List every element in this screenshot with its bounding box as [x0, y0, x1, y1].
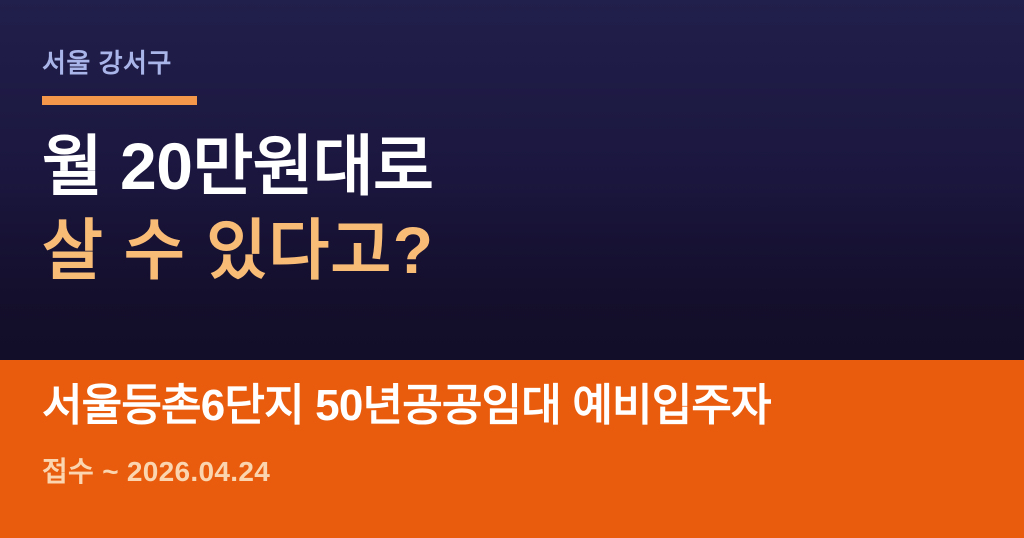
page-title: 월 20만원대로 살 수 있다고?	[42, 124, 435, 293]
footer-band: 서울등촌6단지 50년공공임대 예비입주자 접수 ~ 2026.04.24	[0, 360, 1024, 538]
application-deadline: 접수 ~ 2026.04.24	[42, 455, 270, 489]
hero-section: 서울 강서구 월 20만원대로 살 수 있다고?	[0, 0, 1024, 360]
project-title: 서울등촌6단지 50년공공임대 예비입주자	[42, 380, 771, 433]
headline-line-1: 월 20만원대로	[42, 124, 435, 208]
accent-underline-bar	[42, 96, 197, 105]
housing-notice-banner: 서울 강서구 월 20만원대로 살 수 있다고? 서울등촌6단지 50년공공임대…	[0, 0, 1024, 538]
region-label: 서울 강서구	[42, 49, 172, 79]
hero-content: 서울 강서구 월 20만원대로 살 수 있다고?	[42, 0, 1024, 360]
footer-content: 서울등촌6단지 50년공공임대 예비입주자 접수 ~ 2026.04.24	[42, 360, 1024, 538]
headline-line-2: 살 수 있다고?	[42, 208, 435, 292]
